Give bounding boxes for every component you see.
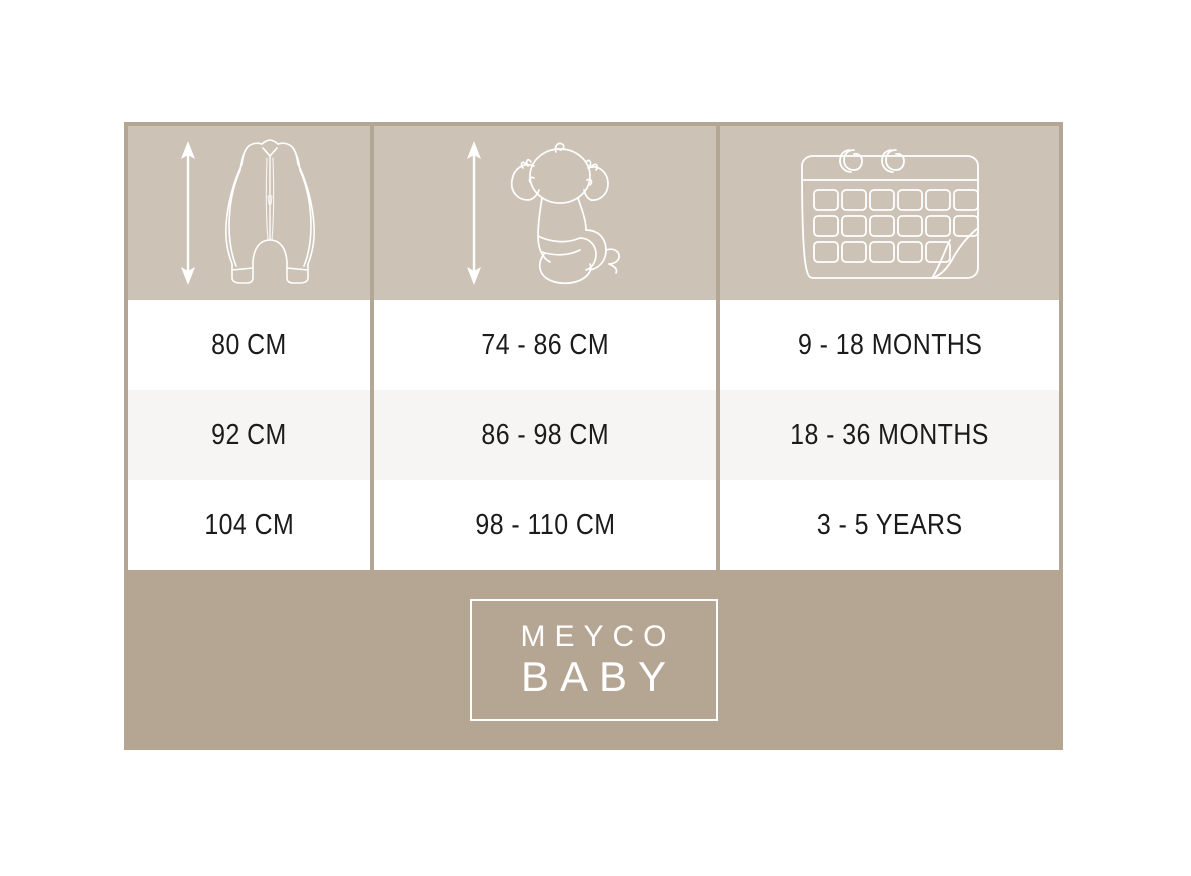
size-chart-table: 80 CM 74 - 86 CM 9 - 18 MONTHS 92 CM 86 … [124,122,1063,570]
cell-value: 9 - 18 MONTHS [798,329,982,362]
table-row: 80 CM 74 - 86 CM 9 - 18 MONTHS [128,300,1059,390]
baby-sitting-icon [504,138,628,288]
chart-header-row [128,126,1059,300]
brand-logo: MEYCO BABY [470,599,718,721]
cell-value: 98 - 110 CM [475,509,615,542]
table-cell-body-length: 74 - 86 CM [374,300,717,390]
table-cell-age-range: 9 - 18 MONTHS [720,300,1059,390]
cell-value: 92 CM [211,419,287,452]
table-cell-age-range: 18 - 36 MONTHS [720,390,1059,480]
cell-value: 86 - 98 CM [481,419,609,452]
cell-value: 104 CM [204,509,294,542]
header-cell-body-length [374,126,717,300]
cell-value: 74 - 86 CM [481,329,609,362]
table-cell-body-length: 98 - 110 CM [374,480,717,570]
table-cell-product-size: 92 CM [128,390,370,480]
cell-value: 3 - 5 YEARS [817,509,963,542]
chart-footer: MEYCO BABY [124,570,1063,750]
brand-logo-line-2: BABY [510,655,677,699]
cell-value: 80 CM [211,329,287,362]
header-cell-product-size [128,126,370,300]
vertical-double-arrow-icon [462,140,486,286]
cell-value: 18 - 36 MONTHS [790,419,989,452]
table-row: 104 CM 98 - 110 CM 3 - 5 YEARS [128,480,1059,570]
table-cell-product-size: 80 CM [128,300,370,390]
size-chart-card: 80 CM 74 - 86 CM 9 - 18 MONTHS 92 CM 86 … [124,122,1063,750]
sleeping-bag-icon [218,138,322,288]
brand-logo-line-1: MEYCO [511,621,675,653]
table-row: 92 CM 86 - 98 CM 18 - 36 MONTHS [128,390,1059,480]
vertical-double-arrow-icon [176,140,200,286]
calendar-icon [792,140,988,286]
table-cell-product-size: 104 CM [128,480,370,570]
header-cell-age-range [720,126,1059,300]
table-cell-age-range: 3 - 5 YEARS [720,480,1059,570]
table-cell-body-length: 86 - 98 CM [374,390,717,480]
